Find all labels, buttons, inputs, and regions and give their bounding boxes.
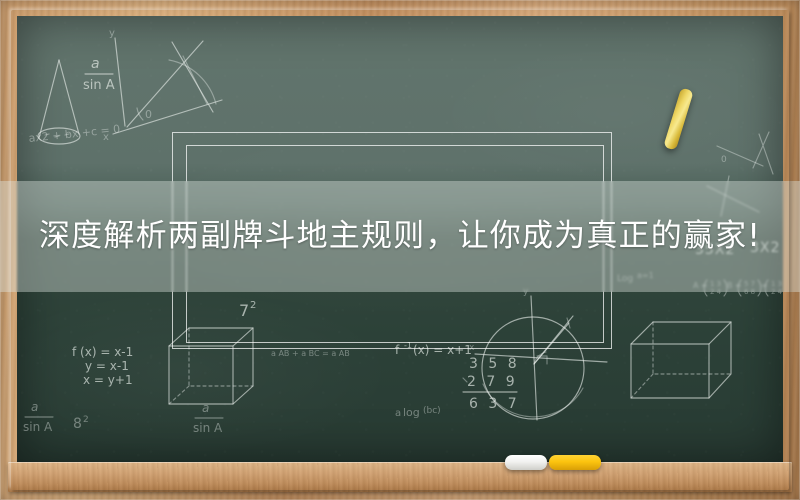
inverse-function-equation: f -1 (x) = x+1 bbox=[395, 341, 472, 357]
seven-squared: 7 2 bbox=[239, 300, 256, 320]
svg-text:f: f bbox=[395, 343, 400, 357]
svg-text:6 3 7: 6 3 7 bbox=[469, 396, 520, 412]
svg-text:log: log bbox=[403, 406, 420, 419]
angle-lines-right-edge: 0 bbox=[717, 132, 773, 174]
svg-text:y: y bbox=[109, 28, 115, 39]
log-expression: a log (bc) bbox=[395, 406, 441, 419]
subtraction-problem: 3 5 8 2 7 9 6 3 7 bbox=[463, 356, 520, 412]
quadratic-equation: ax2 + bx +c = 0 bbox=[28, 122, 121, 145]
svg-text:2: 2 bbox=[83, 415, 89, 425]
svg-text:(x) = x+1: (x) = x+1 bbox=[413, 343, 472, 357]
svg-text:sin A: sin A bbox=[23, 420, 53, 434]
svg-text:y = x-1: y = x-1 bbox=[85, 359, 129, 373]
law-of-sines-fraction-topleft: a sin A bbox=[83, 56, 115, 93]
svg-text:8: 8 bbox=[73, 416, 82, 432]
ledge-chalk-white bbox=[505, 455, 547, 470]
unit-circle-diagram: y x bbox=[469, 287, 607, 420]
svg-text:ax2 + bx +c = 0: ax2 + bx +c = 0 bbox=[28, 122, 121, 145]
law-of-sines-fraction-center: a sin A bbox=[193, 401, 223, 435]
svg-text:2: 2 bbox=[250, 300, 256, 311]
page-title: 深度解析两副牌斗地主规则，让你成为真正的赢家! bbox=[0, 181, 800, 292]
svg-text:7: 7 bbox=[239, 301, 249, 320]
svg-text:3 5 8: 3 5 8 bbox=[469, 356, 520, 372]
svg-text:(bc): (bc) bbox=[423, 406, 441, 416]
svg-text:sin A: sin A bbox=[83, 78, 115, 93]
cube-drawing-center bbox=[169, 328, 253, 404]
svg-text:a: a bbox=[395, 408, 401, 419]
svg-text:x: x bbox=[469, 343, 475, 353]
vector-expression: a AB + a BC = a AB bbox=[271, 349, 350, 358]
eight-squared: 8 2 bbox=[73, 415, 89, 432]
ledge-chalk-yellow bbox=[549, 455, 601, 470]
svg-text:a AB + a BC = a AB: a AB + a BC = a AB bbox=[271, 349, 350, 358]
svg-text:x: x bbox=[103, 132, 109, 143]
svg-text:0: 0 bbox=[721, 155, 727, 165]
function-equations: f (x) = x-1 y = x-1 x = y+1 bbox=[72, 345, 133, 387]
svg-text:a: a bbox=[31, 400, 38, 414]
svg-text:0: 0 bbox=[145, 108, 152, 121]
law-of-sines-fraction-bottomleft: a sin A bbox=[23, 400, 53, 434]
angle-diagram: y x 0 bbox=[103, 28, 222, 143]
svg-text:a: a bbox=[202, 401, 209, 415]
svg-text:f (x) = x-1: f (x) = x-1 bbox=[72, 345, 133, 359]
svg-text:x = y+1: x = y+1 bbox=[83, 373, 133, 387]
svg-text:-1: -1 bbox=[404, 341, 412, 350]
svg-text:a: a bbox=[91, 56, 100, 72]
cube-drawing-right bbox=[631, 322, 731, 398]
svg-text:sin A: sin A bbox=[193, 421, 223, 435]
svg-text:2 7 9: 2 7 9 bbox=[467, 374, 518, 390]
blackboard-banner: a sin A ax2 + bx +c = 0 y x bbox=[0, 0, 800, 500]
cone-drawing bbox=[38, 60, 80, 144]
chalk-ledge bbox=[8, 462, 792, 492]
